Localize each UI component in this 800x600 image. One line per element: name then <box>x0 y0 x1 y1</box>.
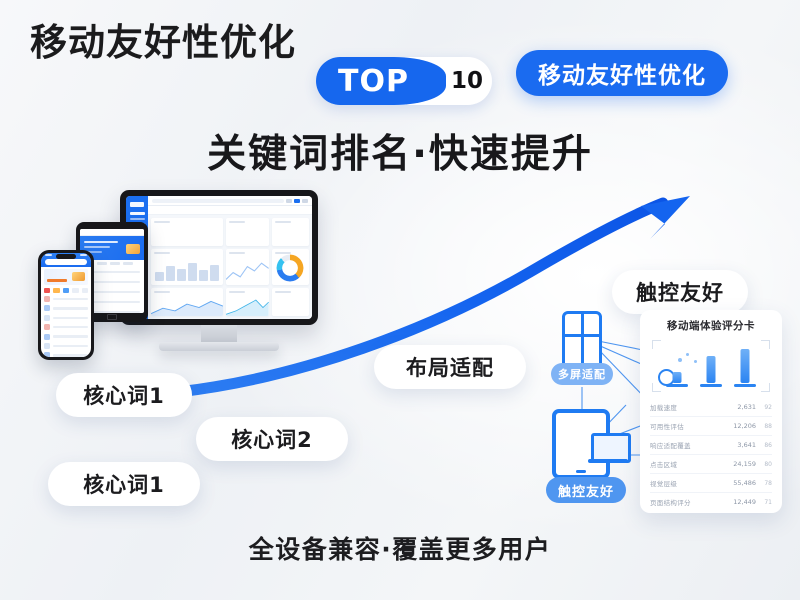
keyword-pill-3[interactable]: 核心词1 <box>48 462 200 506</box>
table-row: 点击区域 24,159 80 <box>650 455 772 474</box>
dashboard-logo <box>130 202 144 207</box>
score-card-list: 加载速度 2,631 92 可用性评估 12,206 88 响应适配覆盖 3,6… <box>650 398 772 511</box>
row-value: 3,641 <box>730 441 756 449</box>
phone-promo-banner <box>44 269 88 285</box>
table-row: 页面结构评分 12,449 71 <box>650 493 772 511</box>
keyword-pill-1[interactable]: 核心词1 <box>56 373 192 417</box>
dashboard-filter-row <box>148 206 312 215</box>
dashboard-chip <box>286 199 292 203</box>
phone-notch <box>56 254 76 259</box>
dashboard-card-line <box>226 249 269 284</box>
chart-bar <box>706 356 715 383</box>
device-network-diagram: 多屏适配 触控友好 <box>540 305 650 505</box>
row-name: 视觉层级 <box>650 478 730 488</box>
chart-bar <box>741 349 750 383</box>
dashboard-card <box>272 288 309 316</box>
chart-bar <box>672 372 681 383</box>
badge-rank-number: 10 <box>447 61 487 101</box>
row-name: 加载速度 <box>650 402 730 412</box>
badge-top-label: TOP <box>338 64 409 99</box>
top-rank-badge: TOP 10 <box>316 57 492 105</box>
list-item <box>44 324 88 330</box>
dashboard-card <box>226 218 269 246</box>
row-value: 24,159 <box>730 460 756 468</box>
monitor-stand-base <box>159 342 279 351</box>
score-card-title: 移动端体验评分卡 <box>650 318 772 333</box>
list-item <box>44 352 88 357</box>
dashboard-search-bar <box>152 199 284 203</box>
row-value: 55,486 <box>730 479 756 487</box>
list-item <box>44 334 88 340</box>
row-value: 2,631 <box>730 403 756 411</box>
row-score: 92 <box>756 404 772 411</box>
dashboard-card <box>151 218 223 246</box>
feature-pill-layout[interactable]: 布局适配 <box>374 345 526 389</box>
table-row: 加载速度 2,631 92 <box>650 398 772 417</box>
list-item <box>44 296 88 302</box>
row-value: 12,206 <box>730 422 756 430</box>
table-row: 视觉层级 55,486 78 <box>650 474 772 493</box>
dashboard-chip <box>294 199 300 203</box>
dashboard-chip <box>302 199 308 203</box>
row-score: 86 <box>756 442 772 449</box>
list-item <box>44 315 88 321</box>
row-name: 点击区域 <box>650 459 730 469</box>
desktop-monitor-mockup <box>120 190 318 325</box>
dashboard-card-donut <box>272 249 309 284</box>
mobile-experience-module: 多屏适配 触控友好 移动端体验评分卡 <box>540 305 785 520</box>
row-value: 12,449 <box>730 498 756 506</box>
poster-canvas: 移动友好性优化 TOP 10 移动友好性优化 关键词排名·快速提升 <box>0 0 800 600</box>
page-subtitle: 关键词排名·快速提升 <box>0 123 800 179</box>
table-row: 响应适配覆盖 3,641 86 <box>650 436 772 455</box>
tablet-topbar <box>80 229 144 236</box>
list-item <box>44 343 88 349</box>
monitor-bezel <box>120 190 318 325</box>
phone-mockup <box>38 250 94 360</box>
keyword-pill-2[interactable]: 核心词2 <box>196 417 348 461</box>
phone-result-list <box>41 294 91 357</box>
dashboard-main <box>148 196 312 319</box>
page-title: 移动友好性优化 <box>30 24 296 61</box>
laptop-icon <box>588 433 628 463</box>
phone-search-bar <box>45 259 87 265</box>
row-score: 80 <box>756 461 772 468</box>
dashboard-card-area2 <box>226 288 269 316</box>
dashboard-toolbar <box>148 196 312 206</box>
list-item <box>44 305 88 311</box>
dashboard-card <box>272 218 309 246</box>
phone-screen <box>41 253 91 357</box>
tag-multi-screen[interactable]: 多屏适配 <box>551 363 613 385</box>
row-score: 71 <box>756 499 772 506</box>
tablet-home-button <box>107 314 117 320</box>
score-card: 移动端体验评分卡 加载速度 2,631 92 <box>640 310 782 513</box>
dashboard-nav-item <box>130 218 145 221</box>
phone-quick-icons <box>41 287 91 294</box>
row-name: 响应适配覆盖 <box>650 440 730 450</box>
tag-pill-mobile-friendly[interactable]: 移动友好性优化 <box>516 50 728 96</box>
row-name: 可用性评估 <box>650 421 730 431</box>
donut-chart <box>277 254 304 281</box>
monitor-screen <box>126 196 312 319</box>
tag-touch-friendly[interactable]: 触控友好 <box>546 477 626 503</box>
dashboard-card-bars <box>151 249 223 284</box>
chart-bars <box>664 344 758 387</box>
row-score: 88 <box>756 423 772 430</box>
row-score: 78 <box>756 480 772 487</box>
dashboard-nav-item <box>130 212 145 215</box>
device-mockups <box>24 190 324 390</box>
dashboard-grid <box>148 215 312 319</box>
dashboard-card-area1 <box>151 288 223 316</box>
footer-caption: 全设备兼容·覆盖更多用户 <box>0 530 800 566</box>
row-name: 页面结构评分 <box>650 497 730 507</box>
table-row: 可用性评估 12,206 88 <box>650 417 772 436</box>
banner-card-icon <box>126 244 140 254</box>
score-card-chart <box>652 340 770 392</box>
